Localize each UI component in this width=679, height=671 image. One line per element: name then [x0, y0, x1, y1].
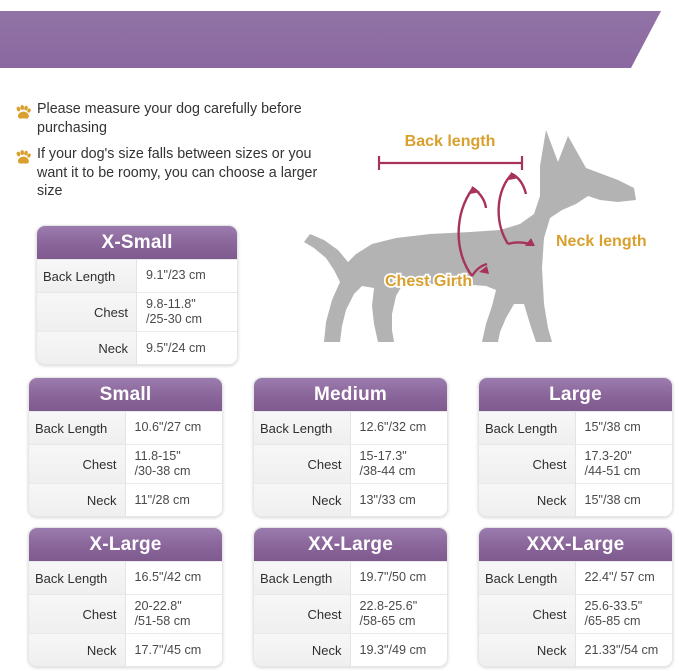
value-line-2: /44-51 cm [585, 464, 667, 479]
table-row: Chest 15-17.3" /38-44 cm [254, 444, 447, 483]
table-row: Chest 25.6-33.5" /65-85 cm [479, 594, 672, 633]
row-label: Back Length [29, 412, 126, 444]
value-line-1: 11.8-15" [135, 449, 217, 464]
size-table-title: XXX-Large [479, 528, 672, 561]
table-row: Back Length 16.5"/42 cm [29, 561, 222, 594]
row-value: 10.6"/27 cm [126, 412, 223, 444]
row-label: Chest [254, 445, 351, 483]
paw-print-icon [14, 148, 32, 166]
value-line-2: /30-38 cm [135, 464, 217, 479]
size-table-title: Small [29, 378, 222, 411]
row-value: 19.3"/49 cm [351, 634, 448, 666]
value-line-2: /25-30 cm [146, 312, 231, 327]
row-label: Back Length [29, 562, 126, 594]
row-label: Neck [29, 484, 126, 516]
table-row: Neck 11"/28 cm [29, 483, 222, 516]
size-table-xxx-large: XXX-Large Back Length 22.4"/ 57 cm Chest… [478, 527, 673, 667]
value-line-2: /51-58 cm [135, 614, 217, 629]
row-value: 22.4"/ 57 cm [576, 562, 673, 594]
row-label: Back Length [254, 562, 351, 594]
value-line-2: /38-44 cm [360, 464, 442, 479]
value-line-1: 22.8-25.6" [360, 599, 442, 614]
size-table-x-small: X-Small Back Length 9.1"/23 cm Chest 9.8… [36, 225, 238, 365]
size-table-large: Large Back Length 15"/38 cm Chest 17.3-2… [478, 377, 673, 517]
back-length-label: Back length [405, 133, 496, 150]
table-row: Neck 9.5"/24 cm [37, 331, 237, 364]
table-row: Chest 11.8-15" /30-38 cm [29, 444, 222, 483]
table-row: Chest 17.3-20" /44-51 cm [479, 444, 672, 483]
row-value: 13"/33 cm [351, 484, 448, 516]
row-value: 16.5"/42 cm [126, 562, 223, 594]
size-table-small: Small Back Length 10.6"/27 cm Chest 11.8… [28, 377, 223, 517]
row-label: Neck [254, 634, 351, 666]
row-value: 11"/28 cm [126, 484, 223, 516]
table-row: Back Length 19.7"/50 cm [254, 561, 447, 594]
size-table-medium: Medium Back Length 12.6"/32 cm Chest 15-… [253, 377, 448, 517]
measurement-notes: Please measure your dog carefully before… [14, 100, 334, 208]
note-text: Please measure your dog carefully before… [37, 100, 334, 138]
row-label: Chest [254, 595, 351, 633]
table-row: Back Length 9.1"/23 cm [37, 259, 237, 292]
row-label: Back Length [479, 412, 576, 444]
size-table-title: X-Large [29, 528, 222, 561]
table-row: Chest 22.8-25.6" /58-65 cm [254, 594, 447, 633]
table-row: Back Length 10.6"/27 cm [29, 411, 222, 444]
table-row: Neck 15"/38 cm [479, 483, 672, 516]
note-text: If your dog's size falls between sizes o… [37, 145, 334, 202]
row-value: 9.5"/24 cm [137, 332, 237, 364]
row-value: 17.3-20" /44-51 cm [576, 445, 673, 483]
row-label: Neck [479, 634, 576, 666]
value-line-2: /58-65 cm [360, 614, 442, 629]
table-row: Chest 9.8-11.8" /25-30 cm [37, 292, 237, 331]
table-row: Chest 20-22.8" /51-58 cm [29, 594, 222, 633]
row-value: 15"/38 cm [576, 484, 673, 516]
header-banner [0, 11, 661, 68]
dog-measurement-diagram: Back length Neck length Chest Girth [300, 118, 679, 350]
value-line-1: 17.3-20" [585, 449, 667, 464]
row-label: Chest [37, 293, 137, 331]
size-table-x-large: X-Large Back Length 16.5"/42 cm Chest 20… [28, 527, 223, 667]
neck-length-label: Neck length [556, 233, 647, 250]
row-label: Chest [479, 445, 576, 483]
table-row: Back Length 15"/38 cm [479, 411, 672, 444]
row-value: 15"/38 cm [576, 412, 673, 444]
table-row: Neck 17.7"/45 cm [29, 633, 222, 666]
row-label: Back Length [37, 260, 137, 292]
row-label: Chest [29, 445, 126, 483]
row-label: Neck [479, 484, 576, 516]
size-table-title: Medium [254, 378, 447, 411]
row-label: Back Length [254, 412, 351, 444]
row-value: 20-22.8" /51-58 cm [126, 595, 223, 633]
list-item: Please measure your dog carefully before… [14, 100, 334, 138]
row-label: Back Length [479, 562, 576, 594]
row-value: 21.33"/54 cm [576, 634, 673, 666]
table-row: Back Length 22.4"/ 57 cm [479, 561, 672, 594]
size-table-title: XX-Large [254, 528, 447, 561]
value-line-1: 20-22.8" [135, 599, 217, 614]
row-value: 15-17.3" /38-44 cm [351, 445, 448, 483]
row-label: Neck [29, 634, 126, 666]
paw-print-icon [14, 103, 32, 121]
table-row: Neck 21.33"/54 cm [479, 633, 672, 666]
value-line-1: 15-17.3" [360, 449, 442, 464]
size-table-title: X-Small [37, 226, 237, 259]
table-row: Back Length 12.6"/32 cm [254, 411, 447, 444]
size-table-xx-large: XX-Large Back Length 19.7"/50 cm Chest 2… [253, 527, 448, 667]
row-label: Neck [254, 484, 351, 516]
value-line-1: 9.8-11.8" [146, 297, 231, 312]
row-value: 17.7"/45 cm [126, 634, 223, 666]
row-label: Chest [29, 595, 126, 633]
row-value: 19.7"/50 cm [351, 562, 448, 594]
back-length-measure-arrow [379, 156, 522, 170]
row-value: 9.1"/23 cm [137, 260, 237, 292]
row-label: Chest [479, 595, 576, 633]
row-label: Neck [37, 332, 137, 364]
row-value: 12.6"/32 cm [351, 412, 448, 444]
table-row: Neck 13"/33 cm [254, 483, 447, 516]
row-value: 25.6-33.5" /65-85 cm [576, 595, 673, 633]
size-table-title: Large [479, 378, 672, 411]
value-line-2: /65-85 cm [585, 614, 667, 629]
value-line-1: 25.6-33.5" [585, 599, 667, 614]
list-item: If your dog's size falls between sizes o… [14, 145, 334, 202]
row-value: 11.8-15" /30-38 cm [126, 445, 223, 483]
table-row: Neck 19.3"/49 cm [254, 633, 447, 666]
row-value: 9.8-11.8" /25-30 cm [137, 293, 237, 331]
chest-girth-label: Chest Girth [385, 273, 472, 290]
row-value: 22.8-25.6" /58-65 cm [351, 595, 448, 633]
